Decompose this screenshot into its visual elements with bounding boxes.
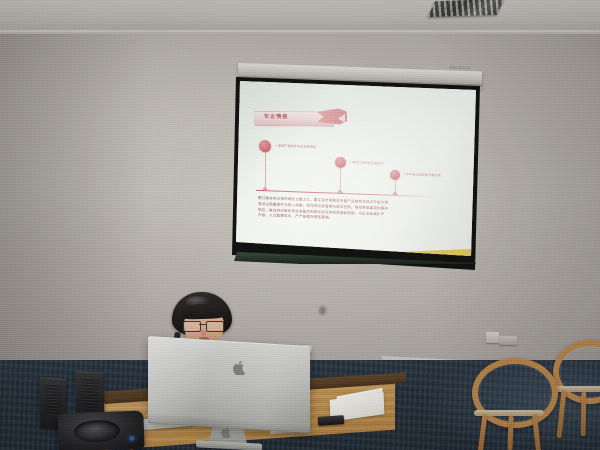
apple-logo-icon xyxy=(233,360,246,376)
subwoofer xyxy=(57,411,144,450)
imac-computer[interactable] xyxy=(148,336,310,428)
ceiling xyxy=(0,0,600,34)
wall-switch-plate xyxy=(499,336,517,345)
timeline-tick-marker xyxy=(392,191,398,195)
timeline-milestone-dot xyxy=(259,140,271,152)
speaker-grille xyxy=(81,378,99,412)
conference-room-photo: PROJECTA 车企情报 xyxy=(0,0,600,450)
wall-outlet xyxy=(486,332,499,343)
timeline-milestone-dot xyxy=(390,170,400,180)
chair-leg xyxy=(478,414,488,450)
glasses-lens-right xyxy=(206,321,224,332)
glasses-bridge xyxy=(199,324,206,325)
slide-title: 车企情报 xyxy=(264,113,320,120)
timeline-milestone-dot xyxy=(335,157,346,168)
chair-leg xyxy=(507,416,513,450)
imac-reflection xyxy=(148,336,310,432)
timeline-tick-marker xyxy=(262,186,268,190)
timeline-connector xyxy=(340,165,341,189)
slide-title-ribbon: 车企情报 xyxy=(254,108,340,128)
screen-brand-label: PROJECTA xyxy=(450,66,470,71)
glasses-icon xyxy=(183,321,225,331)
wall-scuff-mark xyxy=(319,306,326,315)
timeline-tick-marker xyxy=(337,189,343,193)
chair-leg xyxy=(581,392,587,436)
wall-shadow-left xyxy=(0,34,150,364)
pull-down-projection-screen[interactable]: PROJECTA 车企情报 xyxy=(232,63,482,278)
power-led-indicator xyxy=(129,436,134,441)
timeline-connector xyxy=(265,148,266,186)
bentwood-chair-1[interactable] xyxy=(470,358,556,450)
glasses-lens-left xyxy=(183,321,201,332)
speaker-grille xyxy=(44,383,61,415)
smartphone[interactable] xyxy=(318,415,345,426)
ceiling-air-vent-icon xyxy=(428,0,504,17)
subwoofer-cone xyxy=(74,419,121,443)
chair-seat xyxy=(553,386,600,392)
chair-leg xyxy=(557,390,567,438)
